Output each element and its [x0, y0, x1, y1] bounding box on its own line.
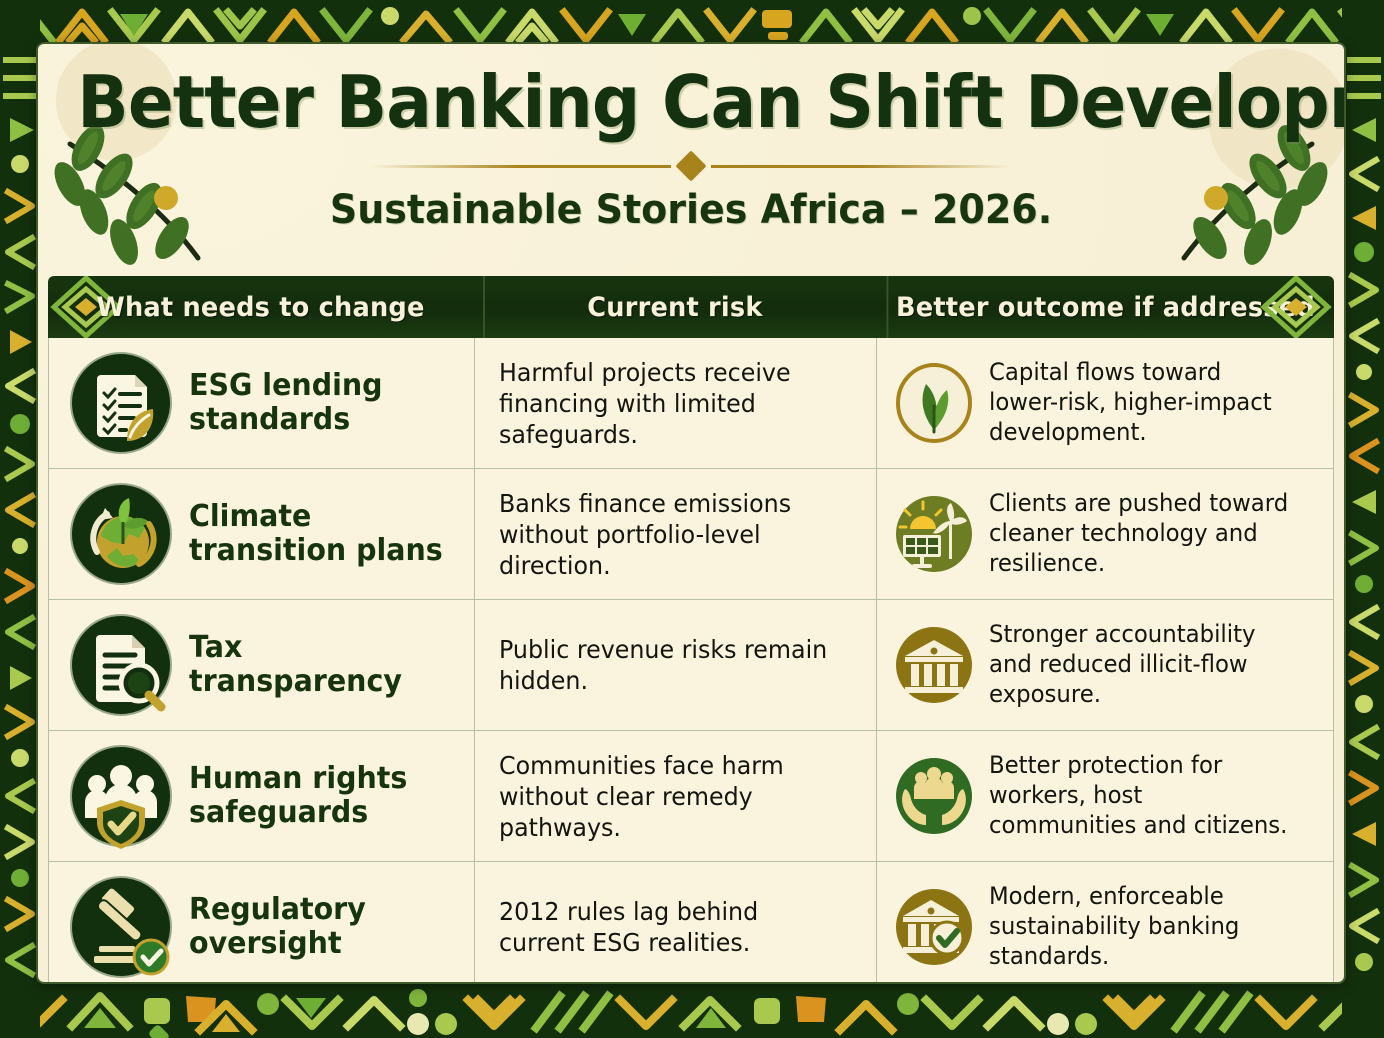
risk-text: Banks finance emissions without portfoli… — [499, 488, 838, 581]
hands-people-icon — [893, 755, 975, 837]
topic-label: Human rights safeguards — [189, 762, 448, 829]
cell-risk: Public revenue risks remain hidden. — [474, 600, 876, 730]
diamond-icon — [675, 151, 706, 182]
cell-outcome: Stronger accountability and reduced illi… — [876, 600, 1333, 730]
cell-outcome: Clients are pushed toward cleaner techno… — [876, 469, 1333, 599]
outcome-text: Modern, enforceable sustainability banki… — [989, 882, 1297, 971]
table-header-row: What needs to change Current risk Better… — [48, 276, 1334, 338]
title-block: Better Banking Can Shift Development. Su… — [38, 44, 1344, 233]
table-row: ESG lending standards Harmful projects r… — [49, 338, 1333, 469]
table-row: Regulatory oversight 2012 rules lag behi… — [49, 862, 1333, 982]
outcome-text: Clients are pushed toward cleaner techno… — [989, 489, 1297, 578]
outcome-text: Stronger accountability and reduced illi… — [989, 620, 1297, 709]
column-header-change: What needs to change — [59, 276, 463, 338]
document-magnifier-icon — [67, 611, 175, 719]
table-row: Climate transition plans Banks finance e… — [49, 469, 1333, 600]
border-pattern-right — [1342, 0, 1384, 1038]
solar-wind-icon — [893, 493, 975, 575]
outcome-text: Capital flows toward lower-risk, higher-… — [989, 358, 1297, 447]
cell-change: Regulatory oversight — [49, 862, 474, 982]
content-card: Better Banking Can Shift Development. Su… — [38, 44, 1344, 982]
border-pattern-left — [0, 0, 40, 1038]
risk-text: Public revenue risks remain hidden. — [499, 634, 838, 696]
outcome-text: Better protection for workers, host comm… — [989, 751, 1297, 840]
cell-risk: 2012 rules lag behind current ESG realit… — [474, 862, 876, 982]
border-pattern-top — [0, 0, 1384, 46]
cell-change: Climate transition plans — [49, 469, 474, 599]
gavel-check-icon — [67, 873, 175, 981]
table-row: Human rights safeguards Communities face… — [49, 731, 1333, 862]
title-divider — [371, 155, 1011, 177]
people-shield-check-icon — [67, 742, 175, 850]
column-header-outcome: Better outcome if addressed — [886, 276, 1322, 338]
cell-change: ESG lending standards — [49, 338, 474, 468]
bank-building-icon — [893, 624, 975, 706]
checklist-leaf-icon — [67, 349, 175, 457]
cell-outcome: Capital flows toward lower-risk, higher-… — [876, 338, 1333, 468]
border-pattern-bottom — [0, 978, 1384, 1038]
topic-label: Tax transparency — [189, 631, 448, 698]
cell-risk: Harmful projects receive financing with … — [474, 338, 876, 468]
cell-risk: Communities face harm without clear reme… — [474, 731, 876, 861]
risk-text: Communities face harm without clear reme… — [499, 750, 838, 843]
page-subtitle: Sustainable Stories Africa – 2026. — [71, 187, 1312, 233]
risk-text: 2012 rules lag behind current ESG realit… — [499, 896, 838, 958]
leaf-icon — [893, 362, 975, 444]
header-diamond-ornament-right — [1260, 276, 1332, 338]
cell-outcome: Better protection for workers, host comm… — [876, 731, 1333, 861]
topic-label: Climate transition plans — [189, 500, 448, 567]
comparison-table: What needs to change Current risk Better… — [48, 276, 1334, 982]
table-row: Tax transparency Public revenue risks re… — [49, 600, 1333, 731]
page-title: Better Banking Can Shift Development. — [77, 66, 1305, 139]
risk-text: Harmful projects receive financing with … — [499, 357, 838, 450]
column-header-risk: Current risk — [483, 276, 865, 338]
bank-check-icon — [893, 886, 975, 968]
divider-line-left — [371, 165, 671, 168]
cell-change: Tax transparency — [49, 600, 474, 730]
topic-label: ESG lending standards — [189, 369, 448, 436]
cell-change: Human rights safeguards — [49, 731, 474, 861]
topic-label: Regulatory oversight — [189, 893, 448, 960]
table-body: ESG lending standards Harmful projects r… — [48, 338, 1334, 982]
cell-risk: Banks finance emissions without portfoli… — [474, 469, 876, 599]
globe-sprout-recycle-icon — [67, 480, 175, 588]
divider-line-right — [711, 165, 1011, 168]
cell-outcome: Modern, enforceable sustainability banki… — [876, 862, 1333, 982]
poster-root: Better Banking Can Shift Development. Su… — [0, 0, 1384, 1038]
